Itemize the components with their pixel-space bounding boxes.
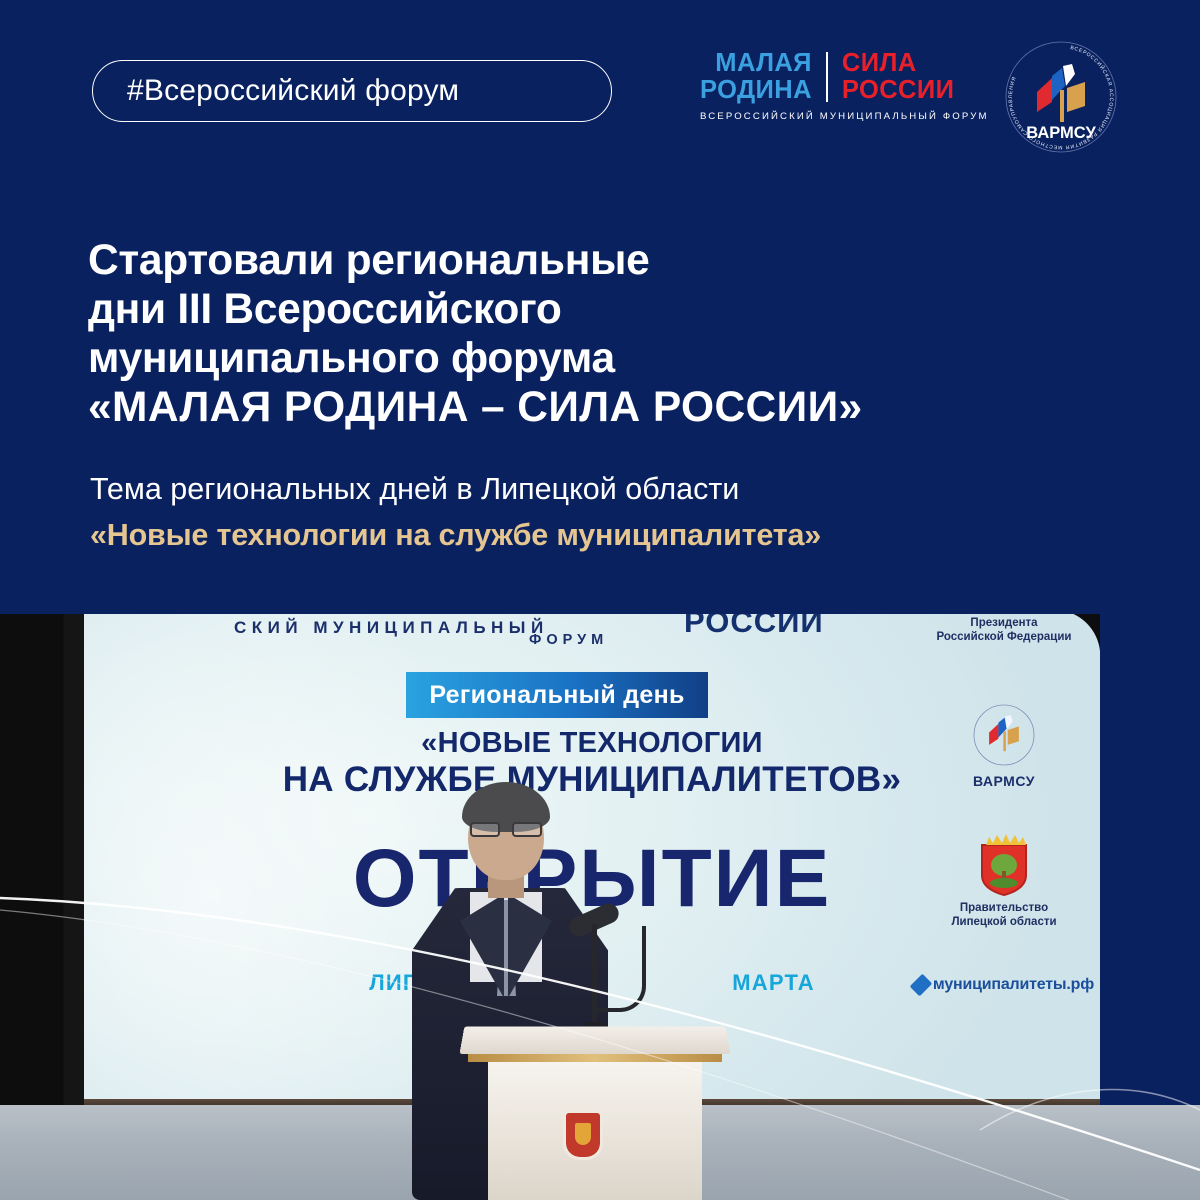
microphone-arm xyxy=(596,926,646,1012)
headline-line-1: Стартовали региональные xyxy=(88,236,1108,285)
podium-gold-band xyxy=(468,1053,722,1062)
regional-day-badge-label: Региональный день xyxy=(429,681,684,710)
hashtag-label: #Всероссийский форум xyxy=(127,74,459,108)
regional-day-badge: Региональный день xyxy=(406,672,708,718)
municipalities-website-label: муниципалитеты.рф xyxy=(933,976,1094,994)
screen-varmsu-label: ВАРМСУ xyxy=(914,773,1094,789)
screen-varmsu-logo: ВАРМСУ xyxy=(914,699,1094,789)
russian-emblem-icon xyxy=(566,1113,600,1157)
lipetsk-line-1: Правительство xyxy=(914,901,1094,915)
subtitle-block: Тема региональных дней в Липецкой област… xyxy=(90,470,1090,554)
headline-line-3: муниципального форума xyxy=(88,334,1108,383)
screen-month: МАРТА xyxy=(732,970,815,996)
forum-logo-tagline: ВСЕРОССИЙСКИЙ МУНИЦИПАЛЬНЫЙ ФОРУМ xyxy=(700,111,980,122)
page-title: Стартовали региональные дни III Всеросси… xyxy=(88,236,1108,432)
speaker-glasses-icon xyxy=(470,822,542,837)
subtitle-quote: «Новые технологии на службе муниципалите… xyxy=(90,516,1090,554)
photo-top-edge xyxy=(0,610,1200,614)
headline-line-4: «МАЛАЯ РОДИНА – СИЛА РОССИИ» xyxy=(88,383,1108,432)
varmsu-emblem-icon: ВСЕРОССИЙСКАЯ АССОЦИАЦИЯ РАЗВИТИЯ МЕСТНО… xyxy=(1002,38,1120,156)
screen-top-fragment-1: СКИЙ МУНИЦИПАЛЬНЫЙ xyxy=(234,618,549,638)
poster-card: #Всероссийский форум МАЛАЯ РОДИНА СИЛА Р… xyxy=(0,0,1200,1200)
microphone-stem xyxy=(592,924,597,1030)
subtitle-intro: Тема региональных дней в Липецкой област… xyxy=(90,470,1090,508)
svg-text:ВАРМСУ: ВАРМСУ xyxy=(1026,124,1096,142)
forum-logo-sila: СИЛА xyxy=(842,50,954,77)
event-photo: СКИЙ МУНИЦИПАЛЬНЫЙ ФОРУМ РОССИИ Регионал… xyxy=(0,610,1200,1200)
forum-logo-malaya: МАЛАЯ xyxy=(700,50,812,77)
lipetsk-line-2: Липецкой области xyxy=(914,915,1094,929)
podium xyxy=(462,1025,728,1200)
president-patronage-label: Президента Российской Федерации xyxy=(914,616,1094,645)
diamond-icon xyxy=(910,973,933,996)
podium-top xyxy=(459,1026,730,1054)
hashtag-pill[interactable]: #Всероссийский форум xyxy=(92,60,612,122)
lipetsk-gov-label: Правительство Липецкой области xyxy=(914,901,1094,930)
screen-top-fragment-big: РОССИИ xyxy=(684,612,824,640)
varmsu-emblem-icon xyxy=(964,699,1044,779)
lipetsk-coat-of-arms: Правительство Липецкой области xyxy=(914,831,1094,930)
president-line-1: Президента xyxy=(914,616,1094,630)
municipalities-website-logo: муниципалитеты.рф xyxy=(914,976,1094,994)
microphone xyxy=(552,910,672,1040)
headline-line-2: дни III Всероссийского xyxy=(88,285,1108,334)
forum-logo: МАЛАЯ РОДИНА СИЛА РОССИИ ВСЕРОССИЙСКИЙ М… xyxy=(700,50,980,122)
screen-logo-column: Президента Российской Федерации xyxy=(914,616,1094,994)
varmsu-logo: ВСЕРОССИЙСКАЯ АССОЦИАЦИЯ РАЗВИТИЯ МЕСТНО… xyxy=(1002,38,1120,156)
header-bar: #Всероссийский форум МАЛАЯ РОДИНА СИЛА Р… xyxy=(0,0,1200,180)
screen-top-fragment-2: ФОРУМ xyxy=(529,632,608,648)
coat-of-arms-icon xyxy=(976,831,1032,897)
forum-logo-rossii: РОССИИ xyxy=(842,77,954,104)
president-line-2: Российской Федерации xyxy=(914,630,1094,644)
forum-logo-rodina: РОДИНА xyxy=(700,77,812,104)
